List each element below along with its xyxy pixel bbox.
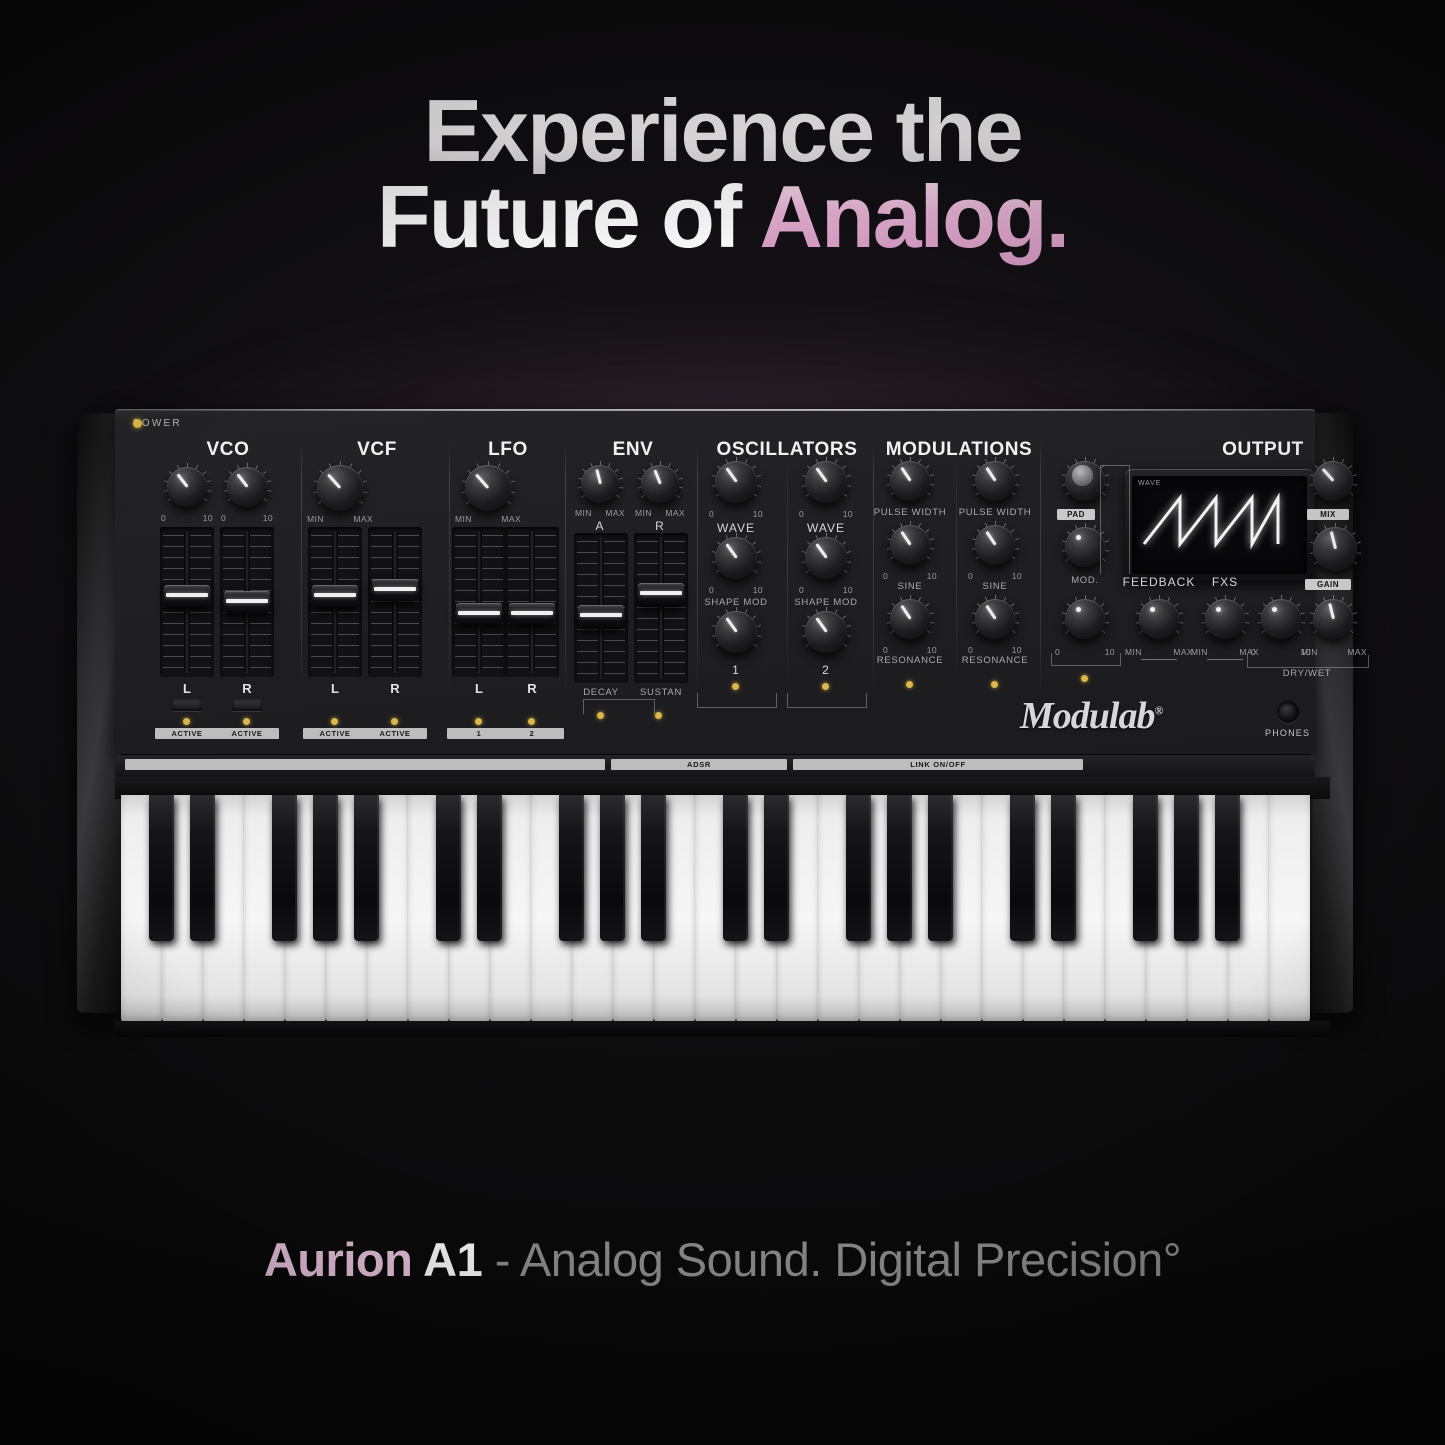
background-vignette — [0, 0, 1445, 1445]
piano-black-key[interactable] — [272, 795, 297, 941]
piano-black-key[interactable] — [1215, 795, 1240, 941]
piano-black-key[interactable] — [764, 795, 789, 941]
piano-black-key[interactable] — [1010, 795, 1035, 941]
piano-black-key[interactable] — [477, 795, 502, 941]
piano-black-key[interactable] — [928, 795, 953, 941]
piano-black-key[interactable] — [723, 795, 748, 941]
piano-black-key[interactable] — [1174, 795, 1199, 941]
piano-black-key[interactable] — [1051, 795, 1076, 941]
piano-black-key[interactable] — [313, 795, 338, 941]
piano-black-key[interactable] — [149, 795, 174, 941]
piano-black-key[interactable] — [436, 795, 461, 941]
piano-black-key[interactable] — [190, 795, 215, 941]
piano-black-key[interactable] — [1133, 795, 1158, 941]
piano-black-key[interactable] — [559, 795, 584, 941]
piano-black-key[interactable] — [600, 795, 625, 941]
piano-black-key[interactable] — [846, 795, 871, 941]
piano-black-key[interactable] — [887, 795, 912, 941]
piano-black-key[interactable] — [641, 795, 666, 941]
piano-black-key[interactable] — [354, 795, 379, 941]
